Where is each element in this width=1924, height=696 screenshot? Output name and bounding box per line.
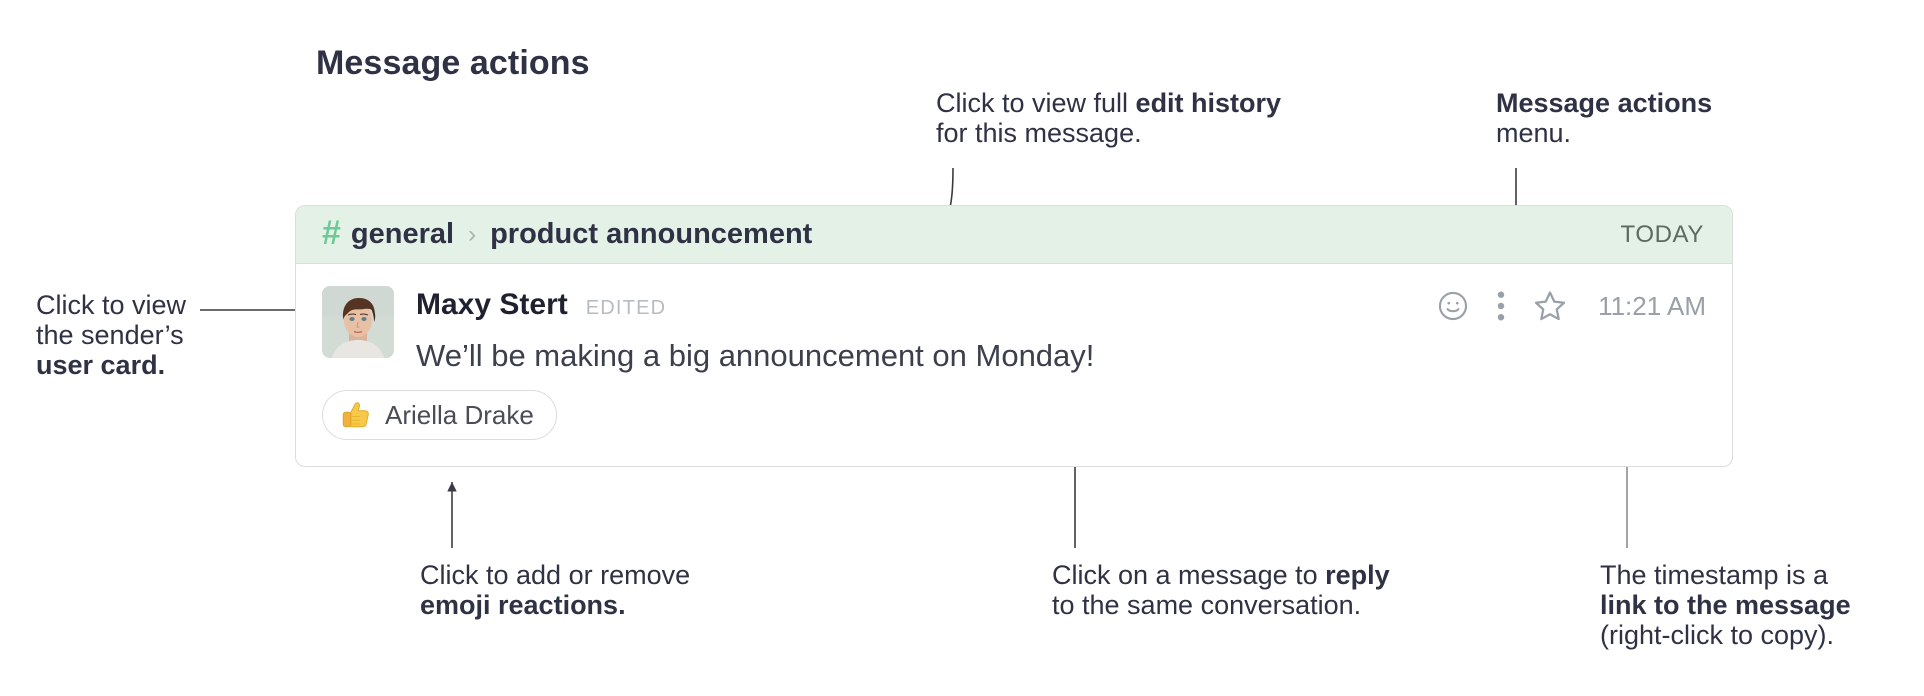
annotation-emoji-reactions-line-2: emoji reactions. <box>420 590 690 620</box>
avatar[interactable] <box>322 286 394 358</box>
reaction-pill[interactable]: Ariella Drake <box>322 390 557 440</box>
annotation-timestamp-line-1: The timestamp is a <box>1600 560 1851 590</box>
annotation-timestamp-emphasis: link to the message <box>1600 590 1851 620</box>
thumbs-up-glyph <box>339 398 373 432</box>
hash-icon: # <box>322 216 341 250</box>
annotation-edit-history-line-2: for this message. <box>936 118 1281 148</box>
message-timestamp-link[interactable]: 11:21 AM <box>1598 291 1706 322</box>
annotation-user-card-line-3: user card. <box>36 350 186 380</box>
avatar-photo <box>322 286 394 358</box>
annotation-edit-history-emphasis: edit history <box>1136 88 1282 118</box>
annotation-user-card-emphasis: user card. <box>36 350 165 380</box>
vertical-dots-icon[interactable] <box>1496 289 1506 323</box>
annotation-actions-menu-line-2: menu. <box>1496 118 1712 148</box>
message-actions-row: 11:21 AM <box>1436 288 1706 324</box>
chevron-right-icon: › <box>468 223 476 247</box>
annotation-edit-history: Click to view full edit history for this… <box>936 88 1281 148</box>
annotation-reply-emphasis: reply <box>1325 560 1390 590</box>
annotation-reply-line-1: Click on a message to reply <box>1052 560 1390 590</box>
annotation-user-card-line-2: the sender’s <box>36 320 186 350</box>
smiley-face-icon[interactable] <box>1436 289 1470 323</box>
annotation-emoji-reactions-line-1: Click to add or remove <box>420 560 690 590</box>
sender-name[interactable]: Maxy Stert <box>416 288 568 322</box>
annotation-emoji-reactions: Click to add or remove emoji reactions. <box>420 560 690 620</box>
annotation-actions-menu: Message actions menu. <box>1496 88 1712 148</box>
annotation-edit-history-line-1: Click to view full edit history <box>936 88 1281 118</box>
annotation-actions-menu-line-1: Message actions <box>1496 88 1712 118</box>
breadcrumb-channel-name[interactable]: general <box>351 218 454 251</box>
page-title: Message actions <box>316 44 590 83</box>
day-label: TODAY <box>1621 221 1704 249</box>
annotation-user-card-line-1: Click to view <box>36 290 186 320</box>
annotation-timestamp-line-3: (right-click to copy). <box>1600 620 1851 650</box>
annotation-timestamp-line-2: link to the message <box>1600 590 1851 620</box>
annotation-edit-history-line-1-pre: Click to view full <box>936 88 1136 118</box>
message-card: # general › product announcement TODAY <box>295 205 1733 467</box>
annotation-reply: Click on a message to reply to the same … <box>1052 560 1390 620</box>
thumbs-up-icon <box>339 398 373 432</box>
annotation-reply-line-2: to the same conversation. <box>1052 590 1390 620</box>
message-body[interactable]: Maxy Stert EDITED We’ll be making a big … <box>296 264 1732 466</box>
reaction-row: Ariella Drake <box>322 390 1706 440</box>
reaction-label: Ariella Drake <box>385 400 534 431</box>
message-text[interactable]: We’ll be making a big announcement on Mo… <box>416 338 1706 374</box>
breadcrumb-topic-name[interactable]: product announcement <box>490 218 812 251</box>
annotation-emoji-reactions-emphasis: emoji reactions. <box>420 590 626 620</box>
annotation-user-card: Click to view the sender’s user card. <box>36 290 186 381</box>
edited-badge[interactable]: EDITED <box>586 297 667 320</box>
annotation-timestamp: The timestamp is a link to the message (… <box>1600 560 1851 651</box>
annotation-actions-menu-emphasis: Message actions <box>1496 88 1712 118</box>
annotation-reply-line-1-pre: Click on a message to <box>1052 560 1325 590</box>
channel-breadcrumb-header: # general › product announcement TODAY <box>296 206 1732 264</box>
star-outline-icon[interactable] <box>1532 288 1568 324</box>
